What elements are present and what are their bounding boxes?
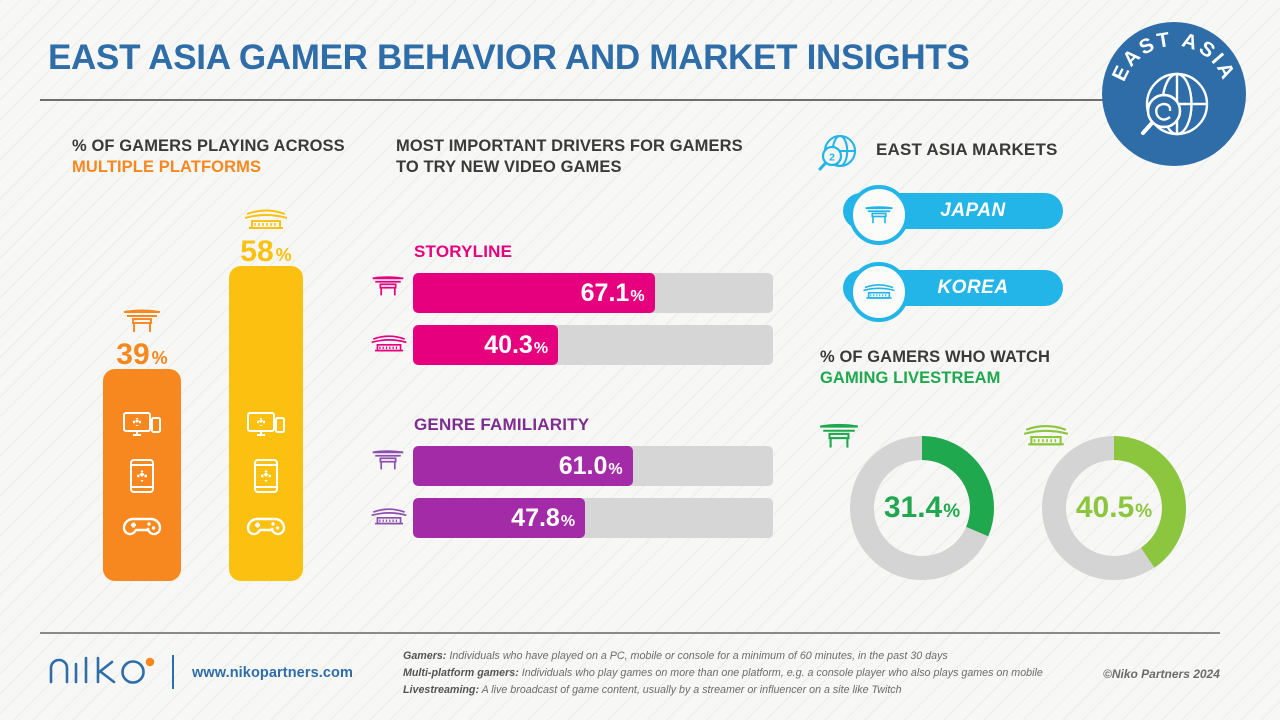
- driver-bar-storyline-japan: 67.1%: [413, 273, 773, 313]
- torii-gate-icon-japan-market: [864, 204, 894, 226]
- donut-value-japan-number: 31.4: [884, 491, 942, 524]
- middle-heading-line2: TO TRY NEW VIDEO GAMES: [396, 158, 622, 176]
- driver-value-genre-korea: 47.8%: [511, 506, 575, 531]
- donut-value-japan: 31.4%: [848, 493, 996, 523]
- platform-value-japan-number: 39: [116, 338, 149, 371]
- infographic-page: EAST ASIA GAMER BEHAVIOR AND MARKET INSI…: [0, 0, 1280, 720]
- market-label-korea: KOREA: [937, 277, 1008, 299]
- donut-value-korea-number: 40.5: [1076, 491, 1134, 524]
- platform-value-korea-pct: %: [276, 245, 292, 265]
- header-divider: [40, 99, 1220, 101]
- donut-value-japan-pct: %: [943, 501, 960, 522]
- left-panel-heading: % OF GAMERS PLAYING ACROSS MULTIPLE PLAT…: [72, 136, 372, 179]
- gamepad-icon: [121, 512, 163, 540]
- footer-divider: [40, 632, 1220, 634]
- footnote-gamers: Gamers: Individuals who have played on a…: [403, 648, 1063, 665]
- korean-gate-icon-korea-market: [862, 281, 896, 303]
- footnote-multiplatform-term: Multi-platform gamers:: [403, 667, 519, 679]
- platform-value-japan-pct: %: [152, 348, 168, 368]
- korean-gate-icon-storyline-korea: [370, 332, 406, 361]
- pc-monitor-icon: [246, 410, 286, 440]
- middle-heading-line1: MOST IMPORTANT DRIVERS FOR GAMERS: [396, 137, 743, 155]
- driver-bar-genre-korea: 47.8%: [413, 498, 773, 538]
- platform-value-japan: 39%: [103, 340, 181, 370]
- markets-title: EAST ASIA MARKETS: [876, 140, 1058, 160]
- left-heading-line1: % OF GAMERS PLAYING ACROSS: [72, 137, 345, 155]
- driver-bar-genre-japan: 61.0%: [413, 446, 773, 486]
- market-circle-japan: [849, 185, 909, 245]
- pc-monitor-icon: [122, 410, 162, 440]
- footer-separator: [172, 655, 174, 689]
- driver-group-label-storyline: STORYLINE: [414, 242, 512, 262]
- mobile-phone-icon: [253, 458, 279, 494]
- torii-gate-icon-japan-bar: [122, 308, 162, 339]
- copyright: ©Niko Partners 2024: [1103, 667, 1220, 681]
- driver-value-storyline-japan: 67.1%: [581, 281, 645, 306]
- website-url[interactable]: www.nikopartners.com: [192, 665, 353, 681]
- footnote-multiplatform-text: Individuals who play games on more than …: [519, 667, 1043, 679]
- device-icons-korea: [229, 410, 303, 540]
- driver-bar-storyline-korea: 40.3%: [413, 325, 773, 365]
- market-circle-korea: [849, 262, 909, 322]
- svg-text:2: 2: [829, 152, 835, 164]
- footnote-livestreaming-term: Livestreaming:: [403, 684, 479, 696]
- left-heading-line2: MULTIPLE PLATFORMS: [72, 158, 261, 176]
- niko-logo: [48, 650, 166, 695]
- driver-value-genre-japan: 61.0%: [559, 454, 623, 479]
- footnote-livestreaming-text: A live broadcast of game content, usuall…: [479, 684, 902, 696]
- gamepad-icon: [245, 512, 287, 540]
- driver-bar-fill-genre-japan: 61.0%: [413, 446, 633, 486]
- device-icons-japan: [103, 410, 181, 540]
- footnote-multiplatform: Multi-platform gamers: Individuals who p…: [403, 665, 1063, 682]
- platform-value-korea-number: 58: [240, 235, 273, 268]
- footnotes: Gamers: Individuals who have played on a…: [403, 648, 1063, 699]
- korean-gate-icon-genre-korea: [370, 505, 406, 534]
- torii-gate-icon-genre-japan: [370, 448, 406, 477]
- footnote-gamers-text: Individuals who have played on a PC, mob…: [446, 650, 947, 662]
- driver-group-label-genre: GENRE FAMILIARITY: [414, 415, 589, 435]
- globe-two-markets-icon: 2: [812, 132, 862, 181]
- east-asia-badge: EAST ASIA: [1100, 20, 1248, 168]
- livestream-heading: % OF GAMERS WHO WATCH GAMING LIVESTREAM: [820, 347, 1150, 390]
- livestream-heading-line1: % OF GAMERS WHO WATCH: [820, 348, 1050, 366]
- driver-value-storyline-korea: 40.3%: [484, 333, 548, 358]
- mobile-phone-icon: [129, 458, 155, 494]
- platform-value-korea: 58%: [227, 237, 305, 267]
- page-title: EAST ASIA GAMER BEHAVIOR AND MARKET INSI…: [48, 40, 1058, 77]
- footnote-gamers-term: Gamers:: [403, 650, 446, 662]
- footnote-livestreaming: Livestreaming: A live broadcast of game …: [403, 682, 1063, 699]
- driver-bar-fill-genre-korea: 47.8%: [413, 498, 585, 538]
- donut-value-korea: 40.5%: [1040, 493, 1188, 523]
- livestream-heading-line2: GAMING LIVESTREAM: [820, 369, 1000, 387]
- driver-bar-fill-storyline-korea: 40.3%: [413, 325, 558, 365]
- korean-gate-icon-korea-bar: [243, 207, 289, 238]
- driver-bar-fill-storyline-japan: 67.1%: [413, 273, 655, 313]
- middle-panel-heading: MOST IMPORTANT DRIVERS FOR GAMERS TO TRY…: [396, 136, 796, 179]
- donut-value-korea-pct: %: [1135, 501, 1152, 522]
- market-label-japan: JAPAN: [940, 200, 1006, 222]
- torii-gate-icon-storyline-japan: [370, 274, 406, 303]
